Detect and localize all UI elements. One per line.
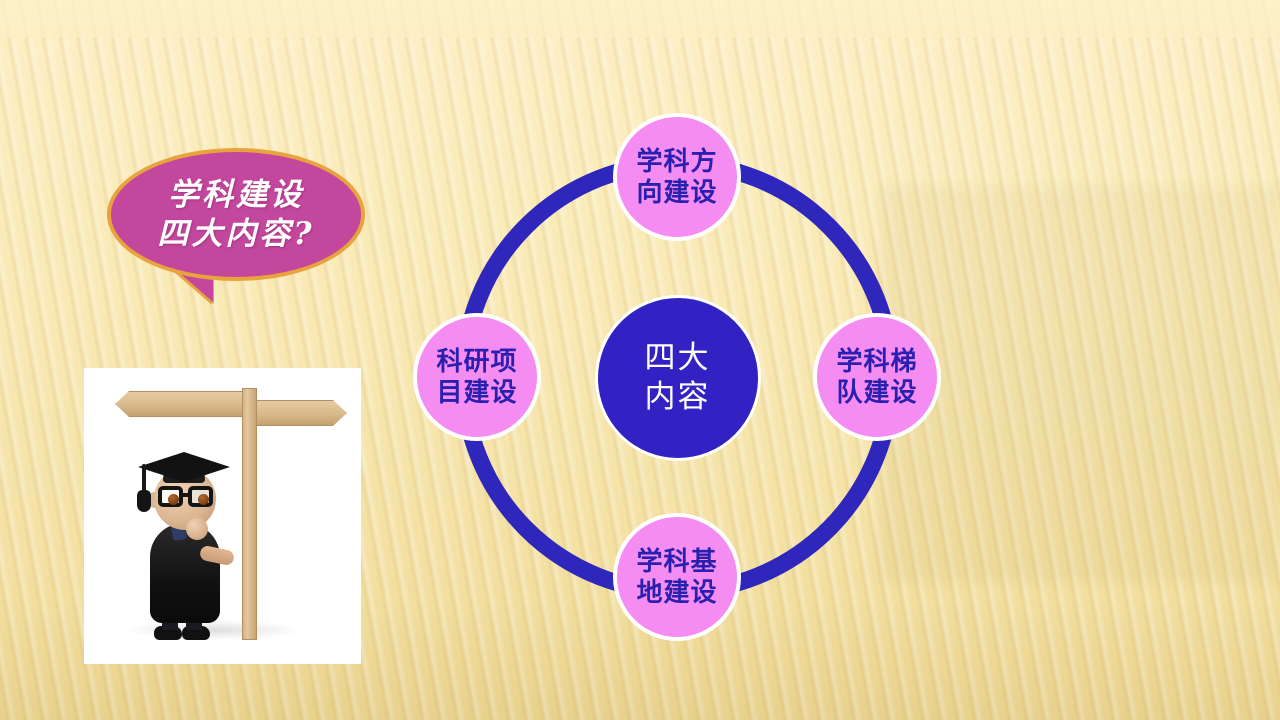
- lens-right: [188, 486, 213, 507]
- graduate-photo-panel: [84, 368, 361, 664]
- diagram-node-bottom[interactable]: 学科基 地建设: [613, 513, 741, 641]
- background-stripe-texture-top: [0, 0, 1280, 40]
- mortarboard-icon: [138, 452, 230, 482]
- diagram-node-right-line-2: 队建设: [836, 380, 917, 406]
- diagram-node-left-line-1: 科研项: [436, 349, 517, 375]
- speech-bubble-body: [107, 148, 365, 281]
- diagram-node-top-line-1: 学科方: [636, 149, 717, 175]
- tassel-cord: [142, 464, 146, 492]
- diagram-node-left-line-2: 目建设: [436, 380, 517, 406]
- hand-on-chin: [186, 518, 208, 540]
- eyeglasses-icon: [158, 486, 216, 507]
- diagram-node-bottom-line-2: 地建设: [636, 580, 717, 606]
- speech-bubble: 学科建设 四大内容?: [107, 148, 365, 281]
- diagram-node-right-line-1: 学科梯: [836, 349, 917, 375]
- slide-canvas: 学科建设 四大内容?: [0, 0, 1280, 720]
- diagram-node-right[interactable]: 学科梯 队建设: [813, 313, 941, 441]
- pupil-left: [168, 494, 179, 505]
- pupil-right: [198, 494, 209, 505]
- diagram-node-bottom-line-1: 学科基: [636, 549, 717, 575]
- signpost-pole: [242, 388, 257, 640]
- diagram-node-top[interactable]: 学科方 向建设: [613, 113, 741, 241]
- graduate-character: [130, 430, 240, 642]
- right-arrow-sign-icon: [255, 400, 347, 426]
- diagram-center-node: 四大 内容: [595, 295, 761, 461]
- diagram-node-top-line-2: 向建设: [636, 180, 717, 206]
- diagram-node-left[interactable]: 科研项 目建设: [413, 313, 541, 441]
- lens-left: [158, 486, 183, 507]
- center-node-line-1: 四大: [645, 343, 711, 374]
- cycle-diagram: 四大 内容 学科方 向建设 学科梯 队建设 学科基 地建设 科研项 目建设: [455, 155, 900, 600]
- center-node-line-2: 内容: [645, 382, 711, 413]
- left-arrow-sign-icon: [115, 391, 243, 417]
- photo-scene: [84, 368, 361, 664]
- tassel-knob: [137, 490, 151, 512]
